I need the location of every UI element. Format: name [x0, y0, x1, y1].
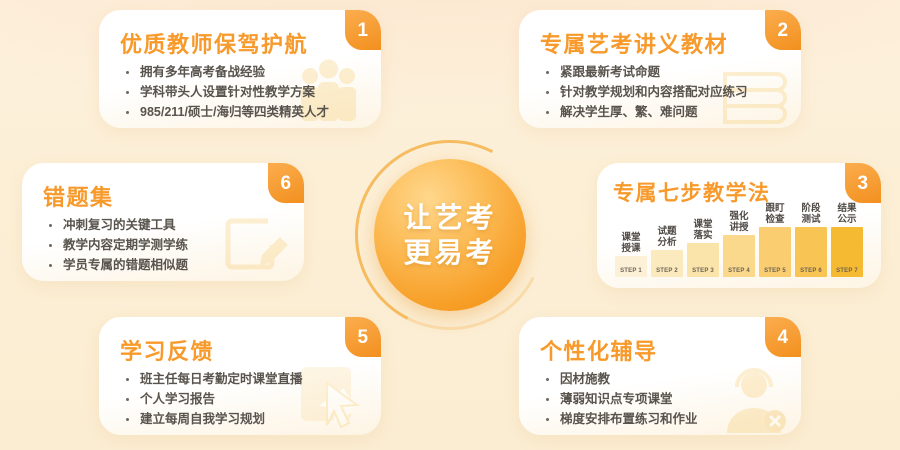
- feature-card-1[interactable]: 1 优质教师保驾护航 拥有多年高考备战经验 学科带头人设置针对性教学方案 985…: [99, 10, 381, 128]
- card-bullets-4: 因材施教 薄弱知识点专项课堂 梯度安排布置练习和作业: [543, 369, 698, 429]
- list-item: 学员专属的错题相似题: [46, 255, 188, 275]
- card-bullets-2: 紧跟最新考试命题 针对教学规划和内容搭配对应练习 解决学生厚、繁、难问题: [543, 62, 748, 122]
- list-item: 拥有多年高考备战经验: [123, 62, 329, 82]
- step-column: 试题 分析STEP 2: [651, 203, 683, 277]
- step-name-label: 结果 公示: [837, 203, 856, 225]
- step-column: 跟盯 检查STEP 5: [759, 203, 791, 277]
- card-title-5: 学习反馈: [120, 334, 214, 366]
- step-column: 课堂 落实STEP 3: [687, 203, 719, 277]
- list-item: 薄弱知识点专项课堂: [543, 389, 698, 409]
- step-bar: STEP 1: [615, 256, 647, 277]
- step-axis-label: STEP 6: [800, 268, 822, 274]
- step-name-label: 阶段 测试: [801, 203, 820, 225]
- step-bar: STEP 6: [795, 227, 827, 277]
- list-item: 个人学习报告: [123, 389, 303, 409]
- card-bullets-1: 拥有多年高考备战经验 学科带头人设置针对性教学方案 985/211/硕士/海归等…: [123, 62, 329, 122]
- card-number-badge-6: 6: [268, 163, 304, 203]
- card-number-badge-1: 1: [345, 10, 381, 50]
- step-name-label: 试题 分析: [657, 226, 676, 248]
- list-item: 建立每周自我学习规划: [123, 409, 303, 429]
- center-slogan-line2: 更易考: [403, 235, 496, 270]
- cursor-arrow-icon: [297, 359, 367, 431]
- seven-step-bar-chart: 课堂 授课STEP 1试题 分析STEP 2课堂 落实STEP 3强化 讲授ST…: [615, 203, 863, 277]
- feature-card-2[interactable]: 2 专属艺考讲义教材 紧跟最新考试命题 针对教学规划和内容搭配对应练习 解决学生…: [519, 10, 801, 128]
- feature-card-6[interactable]: 6 错题集 冲刺复习的关键工具 教学内容定期学测学练 学员专属的错题相似题: [22, 163, 304, 281]
- center-slogan-disc: 让艺考 更易考: [374, 159, 526, 311]
- infographic-canvas: 1 优质教师保驾护航 拥有多年高考备战经验 学科带头人设置针对性教学方案 985…: [0, 0, 900, 450]
- step-bar: STEP 3: [687, 243, 719, 277]
- list-item: 冲刺复习的关键工具: [46, 215, 188, 235]
- card-title-4: 个性化辅导: [540, 334, 658, 366]
- step-bar: STEP 5: [759, 227, 791, 277]
- step-name-label: 强化 讲授: [729, 211, 748, 233]
- step-axis-label: STEP 7: [836, 268, 858, 274]
- list-item: 985/211/硕士/海归等四类精英人才: [123, 102, 329, 122]
- center-medallion: 让艺考 更易考: [355, 140, 545, 330]
- list-item: 教学内容定期学测学练: [46, 235, 188, 255]
- headset-support-icon: [717, 363, 791, 435]
- step-bar: STEP 4: [723, 235, 755, 277]
- center-slogan-line1: 让艺考: [403, 200, 496, 235]
- step-column: 强化 讲授STEP 4: [723, 203, 755, 277]
- list-item: 梯度安排布置练习和作业: [543, 409, 698, 429]
- feature-card-4[interactable]: 4 个性化辅导 因材施教 薄弱知识点专项课堂 梯度安排布置练习和作业: [519, 317, 801, 435]
- list-item: 针对教学规划和内容搭配对应练习: [543, 82, 748, 102]
- feature-card-3[interactable]: 3 专属七步教学法 课堂 授课STEP 1试题 分析STEP 2课堂 落实STE…: [597, 163, 881, 288]
- card-bullets-6: 冲刺复习的关键工具 教学内容定期学测学练 学员专属的错题相似题: [46, 215, 188, 275]
- card-title-1: 优质教师保驾护航: [120, 27, 308, 59]
- step-column: 阶段 测试STEP 6: [795, 203, 827, 277]
- step-axis-label: STEP 4: [728, 268, 750, 274]
- step-bar: STEP 7: [831, 227, 863, 277]
- list-item: 紧跟最新考试命题: [543, 62, 748, 82]
- step-name-label: 课堂 授课: [621, 232, 640, 254]
- step-axis-label: STEP 2: [656, 268, 678, 274]
- card-number-badge-2: 2: [765, 10, 801, 50]
- note-pencil-icon: [222, 211, 292, 277]
- feature-card-5[interactable]: 5 学习反馈 班主任每日考勤定时课堂直播 个人学习报告 建立每周自我学习规划: [99, 317, 381, 435]
- card-number-badge-4: 4: [765, 317, 801, 357]
- step-column: 课堂 授课STEP 1: [615, 203, 647, 277]
- card-bullets-5: 班主任每日考勤定时课堂直播 个人学习报告 建立每周自我学习规划: [123, 369, 303, 429]
- step-axis-label: STEP 3: [692, 268, 714, 274]
- card-title-2: 专属艺考讲义教材: [540, 27, 728, 59]
- card-title-6: 错题集: [43, 180, 114, 212]
- list-item: 因材施教: [543, 369, 698, 389]
- step-name-label: 课堂 落实: [693, 219, 712, 241]
- step-name-label: 跟盯 检查: [765, 203, 784, 225]
- step-axis-label: STEP 1: [620, 268, 642, 274]
- step-bar: STEP 2: [651, 250, 683, 277]
- list-item: 学科带头人设置针对性教学方案: [123, 82, 329, 102]
- step-axis-label: STEP 5: [764, 268, 786, 274]
- card-number-badge-3: 3: [845, 163, 881, 203]
- step-column: 结果 公示STEP 7: [831, 203, 863, 277]
- list-item: 解决学生厚、繁、难问题: [543, 102, 748, 122]
- list-item: 班主任每日考勤定时课堂直播: [123, 369, 303, 389]
